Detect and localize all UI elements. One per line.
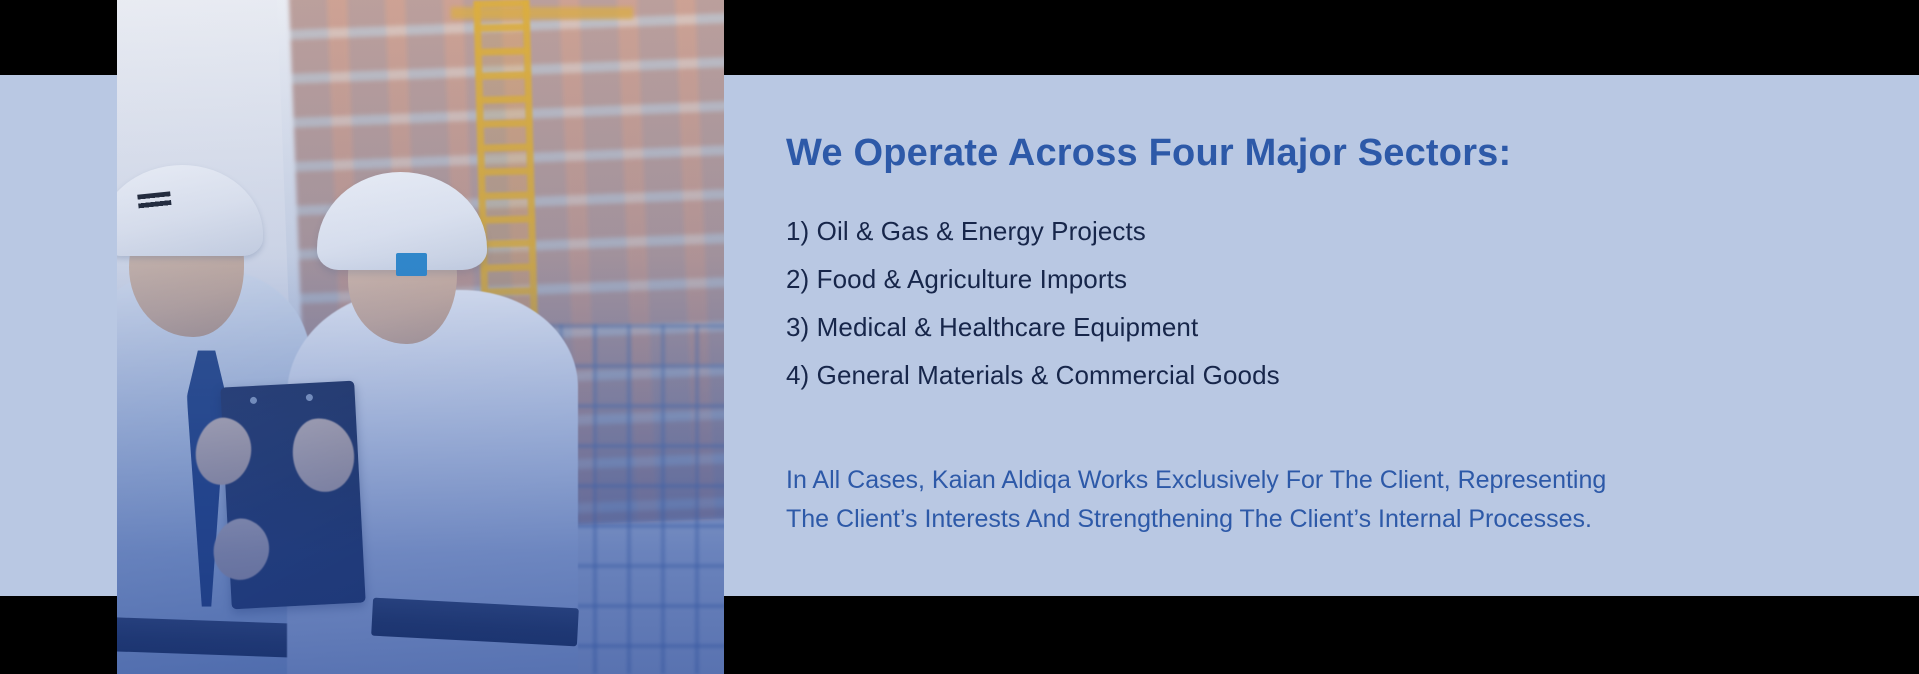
list-item: 1) Oil & Gas & Energy Projects xyxy=(786,207,1886,255)
photo-blue-overlay xyxy=(117,0,724,674)
closing-statement: In All Cases, Kaian Aldiqa Works Exclusi… xyxy=(786,399,1786,539)
construction-photo xyxy=(117,0,724,674)
sector-list: 1) Oil & Gas & Energy Projects 2) Food &… xyxy=(786,207,1886,399)
list-item: 3) Medical & Healthcare Equipment xyxy=(786,303,1886,351)
list-item: 2) Food & Agriculture Imports xyxy=(786,255,1886,303)
text-column: We Operate Across Four Major Sectors: 1)… xyxy=(786,75,1886,539)
closing-line-2: The Client’s Interests And Strengthening… xyxy=(786,500,1786,539)
list-item: 4) General Materials & Commercial Goods xyxy=(786,351,1886,399)
closing-line-1: In All Cases, Kaian Aldiqa Works Exclusi… xyxy=(786,461,1786,500)
page-title: We Operate Across Four Major Sectors: xyxy=(786,75,1886,175)
slide-root: We Operate Across Four Major Sectors: 1)… xyxy=(0,0,1919,674)
